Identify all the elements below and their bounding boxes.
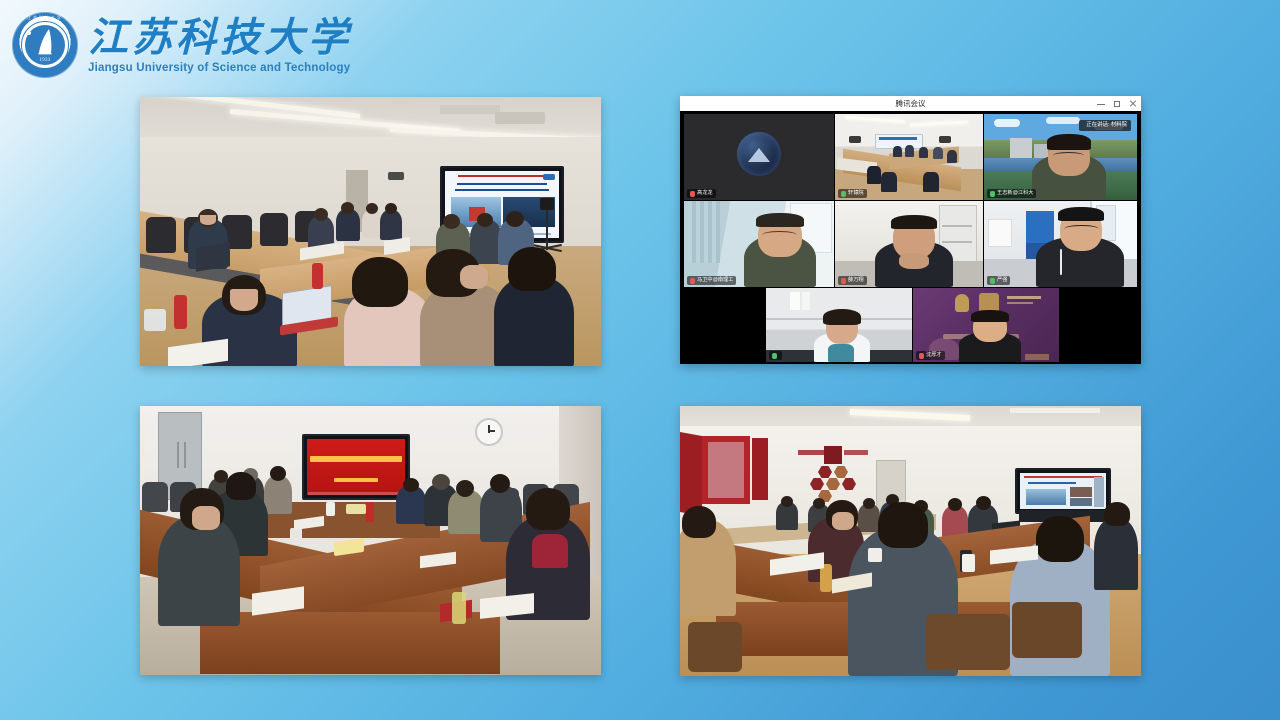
participant-name-chip-6: 严强 <box>987 276 1010 285</box>
meeting-app-title: 腾讯会议 <box>680 96 1141 111</box>
photo-top-left <box>140 97 601 366</box>
photo-bottom-right <box>680 406 1141 676</box>
participant-name-chip-3: 王志新@江科大 <box>987 189 1036 198</box>
video-tile-2[interactable]: 轩辕院 <box>835 114 983 200</box>
video-tile-4[interactable]: 马卫中@南理工 <box>684 201 834 287</box>
university-emblem-icon: 江苏科技大学 1933 <box>12 12 78 78</box>
sail-icon <box>34 29 56 55</box>
emblem-year: 1933 <box>12 58 78 63</box>
photo4-exhibit-panel <box>680 432 702 516</box>
participant-name-chip-5: 薛万翔 <box>838 276 867 285</box>
mic-on-icon <box>990 278 995 284</box>
participant-name-chip-7 <box>769 351 782 360</box>
photo3-screen-title <box>310 456 402 462</box>
mic-on-icon <box>990 191 995 197</box>
photo-bottom-left <box>140 406 601 675</box>
participant-name-chip-1: 高龙龙 <box>687 189 716 198</box>
mic-muted-icon <box>919 353 924 359</box>
maximize-icon[interactable] <box>1113 100 1121 108</box>
mic-muted-icon <box>690 191 695 197</box>
photo3-tea-glass <box>452 592 466 624</box>
photo3-wall-clock <box>475 418 503 446</box>
university-chinese-name: 江苏科技大学 <box>88 17 352 59</box>
minimize-icon[interactable] <box>1097 100 1105 108</box>
video-tile-8[interactable]: 沈厚才 <box>913 288 1059 362</box>
university-brand: 江苏科技大学 1933 江苏科技大学 Jiangsu University of… <box>12 12 352 78</box>
photo3-screen-date <box>334 478 378 482</box>
tencent-meeting-window[interactable]: 腾讯会议 高龙龙 <box>680 96 1141 364</box>
photo1-thermos <box>312 263 323 289</box>
photo4-presentation-screen <box>1015 468 1111 514</box>
video-tile-5[interactable]: 薛万翔 <box>835 201 983 287</box>
meeting-titlebar[interactable]: 腾讯会议 <box>680 96 1141 112</box>
video-tile-3[interactable]: 正在讲话: 材料院 王志新@江科大 <box>984 114 1137 200</box>
slide-canvas: 江苏科技大学 1933 江苏科技大学 Jiangsu University of… <box>0 0 1280 720</box>
photo1-tripod-camera <box>540 198 554 210</box>
active-speaker-chip: 正在讲话: 材料院 <box>1079 120 1131 131</box>
participant-name-chip-8: 沈厚才 <box>916 351 945 360</box>
globe-avatar-icon <box>737 132 781 176</box>
video-tile-1[interactable]: 高龙龙 <box>684 114 834 200</box>
photo4-wall-decor <box>798 448 876 502</box>
university-english-name: Jiangsu University of Science and Techno… <box>88 62 352 74</box>
participant-name-chip-4: 马卫中@南理工 <box>687 276 736 285</box>
close-icon[interactable] <box>1129 100 1137 108</box>
mic-muted-icon <box>690 278 695 284</box>
video-tile-6[interactable]: 严强 <box>984 201 1137 287</box>
photo3-presentation-screen <box>302 434 410 500</box>
mic-muted-icon <box>841 278 846 284</box>
mic-on-icon <box>772 353 777 359</box>
video-grid: 高龙龙 <box>680 111 1141 364</box>
mic-on-icon <box>841 191 846 197</box>
participant-name-chip-2: 轩辕院 <box>838 189 867 198</box>
video-tile-7[interactable] <box>766 288 912 362</box>
